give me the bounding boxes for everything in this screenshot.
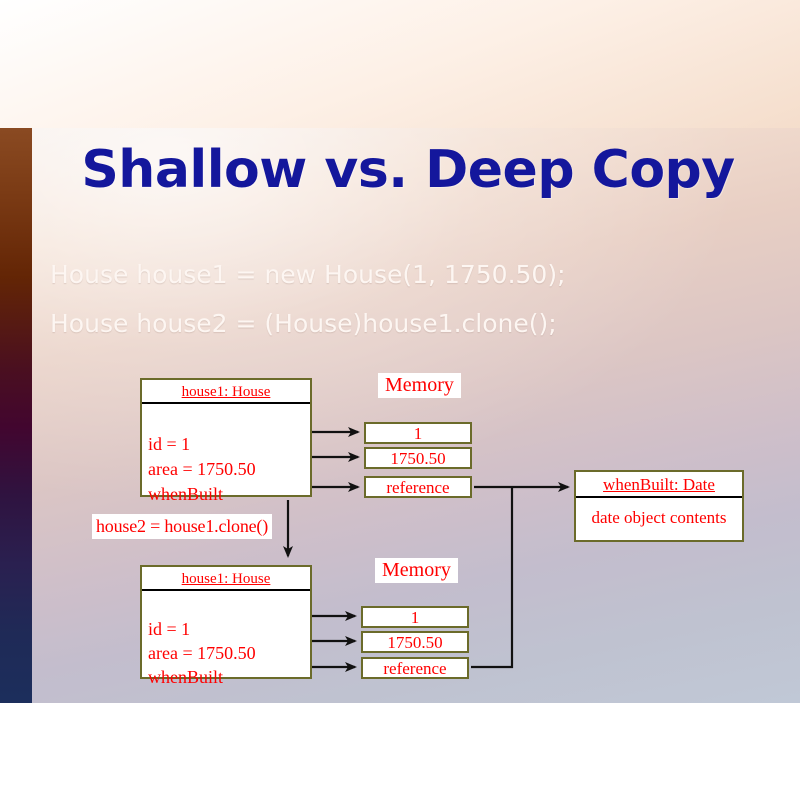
field-whenbuilt: whenBuilt (148, 484, 223, 505)
field-whenbuilt: whenBuilt (148, 667, 223, 688)
field-area: area = 1750.50 (148, 459, 256, 480)
field-id: id = 1 (148, 434, 190, 455)
memory-label-top: Memory (378, 373, 461, 398)
left-accent-bar (0, 128, 32, 703)
memory-slot-reference-bottom: reference (361, 657, 469, 679)
date-object-body: date object contents (576, 498, 742, 542)
memory-slot-reference-top: reference (364, 476, 472, 498)
code-line-2: House house2 = (House)house1.clone(); (50, 309, 557, 338)
object-header: house1: House (142, 380, 310, 404)
memory-label-bottom: Memory (375, 558, 458, 583)
object-fields: id = 1 area = 1750.50 whenBuilt (142, 591, 310, 677)
object-box-date: whenBuilt: Date date object contents (574, 470, 744, 542)
code-line-1: House house1 = new House(1, 1750.50); (50, 260, 566, 289)
date-object-header: whenBuilt: Date (576, 472, 742, 498)
object-box-house1-clone: house1: House id = 1 area = 1750.50 when… (140, 565, 312, 679)
slide-canvas: Shallow vs. Deep Copy House house1 = new… (0, 0, 800, 800)
object-header: house1: House (142, 567, 310, 591)
clone-annotation-label: house2 = house1.clone() (92, 514, 272, 539)
field-area: area = 1750.50 (148, 643, 256, 664)
memory-slot-area-bottom: 1750.50 (361, 631, 469, 653)
field-id: id = 1 (148, 619, 190, 640)
memory-slot-id-top: 1 (364, 422, 472, 444)
object-box-house1-original: house1: House id = 1 area = 1750.50 when… (140, 378, 312, 497)
memory-slot-area-top: 1750.50 (364, 447, 472, 469)
object-fields: id = 1 area = 1750.50 whenBuilt (142, 404, 310, 495)
page-title: Shallow vs. Deep Copy (32, 140, 784, 200)
memory-slot-id-bottom: 1 (361, 606, 469, 628)
